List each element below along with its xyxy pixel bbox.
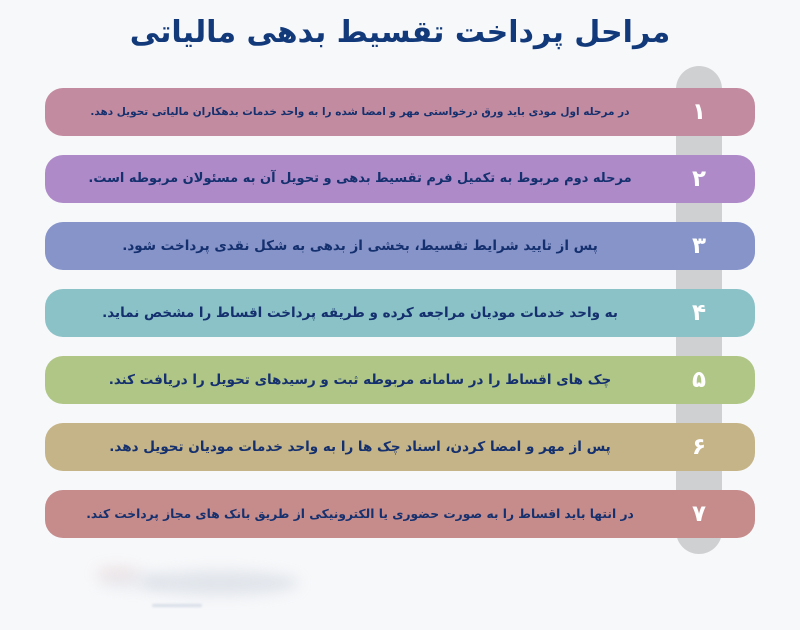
step-text-6: پس از مهر و امضا کردن، اسناد چک ها را به…: [109, 438, 610, 456]
step-row: مرحله دوم مربوط به تکمیل فرم تقسیط بدهی …: [0, 155, 800, 222]
infographic-canvas: مراحل پرداخت تقسیط بدهی مالیاتی در مرحله…: [0, 0, 800, 630]
step-row: در انتها باید اقساط را به صورت حضوری یا …: [0, 490, 800, 557]
step-number-4: ۴: [676, 289, 722, 337]
step-bar-3[interactable]: پس از تایید شرایط تقسیط، بخشی از بدهی به…: [45, 222, 755, 270]
step-number-label-6: ۶: [692, 436, 706, 459]
step-number-label-3: ۳: [692, 235, 706, 258]
step-bar-6[interactable]: پس از مهر و امضا کردن، اسناد چک ها را به…: [45, 423, 755, 471]
step-bar-2[interactable]: مرحله دوم مربوط به تکمیل فرم تقسیط بدهی …: [45, 155, 755, 203]
step-bar-7[interactable]: در انتها باید اقساط را به صورت حضوری یا …: [45, 490, 755, 538]
watermark-underline: [152, 604, 202, 607]
page-title: مراحل پرداخت تقسیط بدهی مالیاتی: [130, 14, 670, 52]
step-bar-1[interactable]: در مرحله اول مودی باید ورق درخواستی مهر …: [45, 88, 755, 136]
page-title-wrapper: مراحل پرداخت تقسیط بدهی مالیاتی: [0, 14, 800, 52]
step-number-label-7: ۷: [692, 503, 706, 526]
step-number-label-5: ۵: [692, 369, 706, 392]
step-number-1: ۱: [676, 88, 722, 136]
step-number-2: ۲: [676, 155, 722, 203]
step-number-label-4: ۴: [692, 302, 706, 325]
watermark-blob-primary: [140, 570, 300, 596]
step-row: پس از مهر و امضا کردن، اسناد چک ها را به…: [0, 423, 800, 490]
step-number-6: ۶: [676, 423, 722, 471]
watermark-blob-accent: [94, 566, 140, 580]
watermark-logo: [20, 564, 300, 612]
step-text-2: مرحله دوم مربوط به تکمیل فرم تقسیط بدهی …: [88, 170, 631, 188]
step-number-7: ۷: [676, 490, 722, 538]
step-number-5: ۵: [676, 356, 722, 404]
step-number-label-2: ۲: [692, 168, 706, 191]
step-bar-5[interactable]: چک های اقساط را در سامانه مربوطه ثبت و ر…: [45, 356, 755, 404]
step-row: پس از تایید شرایط تقسیط، بخشی از بدهی به…: [0, 222, 800, 289]
step-row: در مرحله اول مودی باید ورق درخواستی مهر …: [0, 88, 800, 155]
step-row: چک های اقساط را در سامانه مربوطه ثبت و ر…: [0, 356, 800, 423]
step-number-label-1: ۱: [692, 101, 706, 124]
steps-list: در مرحله اول مودی باید ورق درخواستی مهر …: [0, 88, 800, 557]
step-text-1: در مرحله اول مودی باید ورق درخواستی مهر …: [90, 105, 629, 119]
watermark-blob-secondary: [98, 572, 168, 590]
step-bar-4[interactable]: به واحد خدمات مودیان مراجعه کرده و طریقه…: [45, 289, 755, 337]
step-text-5: چک های اقساط را در سامانه مربوطه ثبت و ر…: [109, 371, 612, 389]
step-row: به واحد خدمات مودیان مراجعه کرده و طریقه…: [0, 289, 800, 356]
step-text-7: در انتها باید اقساط را به صورت حضوری یا …: [86, 506, 634, 523]
step-text-4: به واحد خدمات مودیان مراجعه کرده و طریقه…: [102, 304, 618, 322]
step-text-3: پس از تایید شرایط تقسیط، بخشی از بدهی به…: [122, 237, 598, 255]
step-number-3: ۳: [676, 222, 722, 270]
